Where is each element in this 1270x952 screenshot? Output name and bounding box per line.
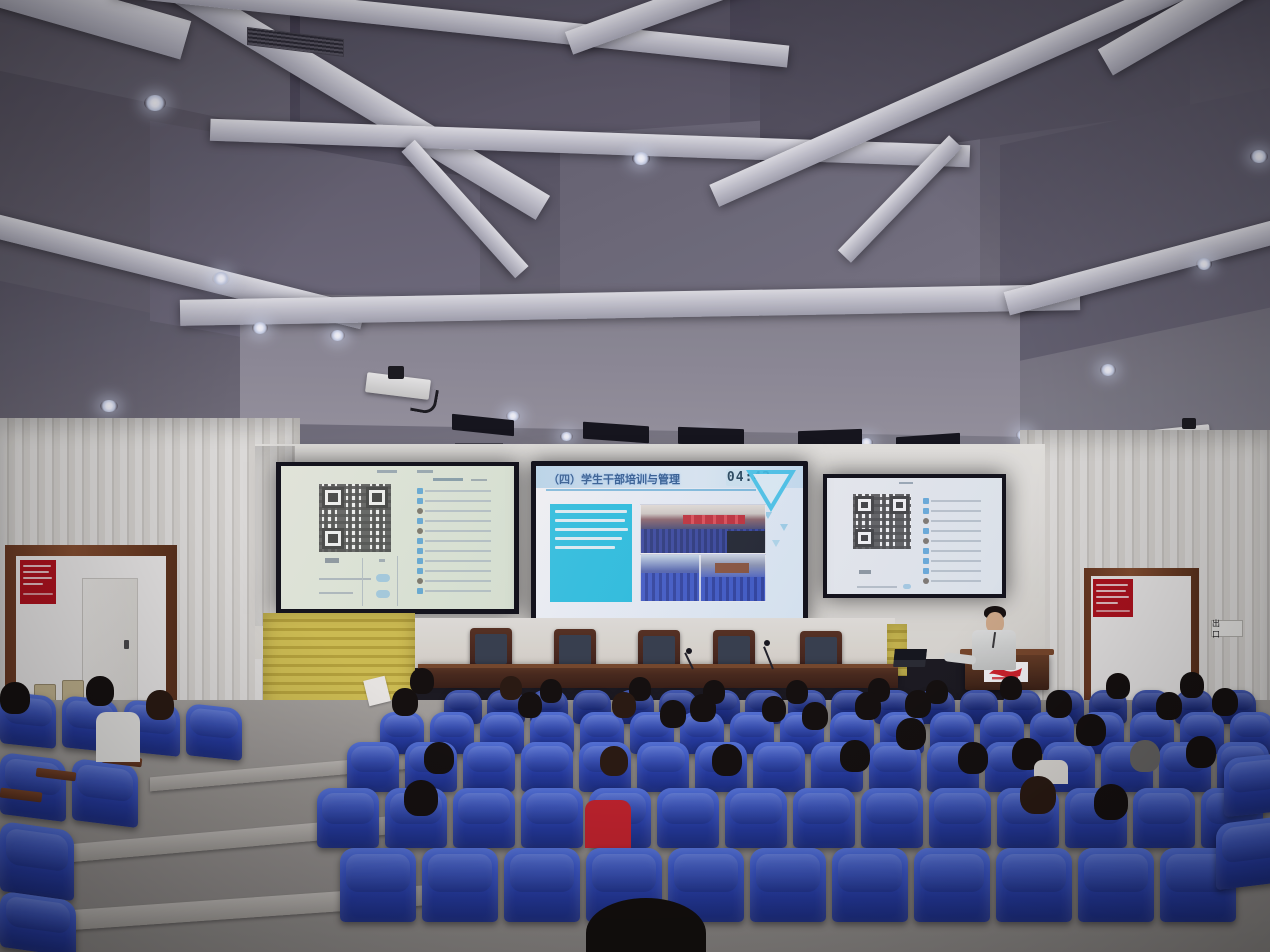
audience-head [540,679,562,703]
left-notice-board [20,560,56,604]
auditorium-seat-left-bank [186,703,242,761]
audience-head [392,688,418,716]
auditorium-seat-left-bank [0,891,76,952]
audience-head [802,702,828,730]
auditorium-seat [463,742,515,792]
head-table [418,666,898,688]
audience-head [840,740,870,772]
audience-body-left [96,712,140,762]
right-projection-screen[interactable] [827,478,1002,594]
slide-text-line [555,528,628,531]
auditorium-scene: （四）学生干部培训与管理 04:42 [0,0,1270,952]
audience-head [1094,784,1128,820]
auditorium-seat [340,848,416,922]
auditorium-seat [317,788,379,848]
slide-text-line [555,546,615,549]
audience-head [518,692,542,718]
audience-head [612,692,636,718]
audience-head [855,692,881,720]
auditorium-seat [725,788,787,848]
audience-head [424,742,454,774]
audience-head [1212,688,1238,716]
stage-chair [470,628,512,668]
audience-head-left [146,690,174,720]
ceiling-speaker-array [583,422,649,444]
auditorium-seat [422,848,498,922]
ceiling-downlight [1250,150,1268,163]
projector-mount-right [1182,418,1196,429]
slide-text-line [555,510,627,513]
auditorium-seat [521,788,583,848]
auditorium-seat [1133,788,1195,848]
exit-sign: 出 口 [1211,620,1243,637]
stage-chair [554,629,596,669]
main-projection-slide[interactable]: （四）学生干部培训与管理 04:42 [536,466,803,620]
audience-head-left [86,676,114,706]
auditorium-seat [750,848,826,922]
auditorium-seat-left-bank [0,752,66,822]
slide-text-panel [550,504,632,602]
auditorium-seat [657,788,719,848]
audience-head [712,744,742,776]
audience-head [1046,690,1072,718]
audience-head [1000,676,1022,700]
head-table-top [418,664,898,668]
auditorium-seat [861,788,923,848]
slide-photo-wide [640,504,766,554]
audience-head [1106,673,1130,699]
audience-head [1180,672,1204,698]
audience-head [1186,736,1216,768]
audience-head [600,746,628,776]
audience-head [958,742,988,774]
microphone-head [686,648,692,654]
audience-body-red [585,800,631,848]
auditorium-seat-right-bank [1224,753,1270,817]
auditorium-seat [793,788,855,848]
auditorium-seat [929,788,991,848]
ceiling-downlight [100,400,118,412]
auditorium-seat [753,742,805,792]
slide-text-line [555,519,625,522]
audience-head [410,668,434,694]
audience-head [786,680,808,704]
auditorium-seat [914,848,990,922]
auditorium-seat [832,848,908,922]
ceiling-downlight [632,152,650,165]
slide-title: （四）学生干部培训与管理 [548,471,680,487]
ceiling-downlight [144,95,166,111]
projector-mount-left [388,366,404,379]
auditorium-seat [1078,848,1154,922]
ceiling-downlight [212,272,230,285]
auditorium-seat [347,742,399,792]
audience-head [1076,714,1106,746]
audience-head [1020,776,1056,814]
presenter-laptop[interactable] [893,649,927,667]
ceiling-downlight [330,330,345,341]
audience-head [1156,692,1182,720]
auditorium-seat [453,788,515,848]
ceiling-downlight [1196,258,1212,270]
ceiling-downlight [560,432,573,441]
auditorium-seat [521,742,573,792]
auditorium-seat-left-bank [72,758,138,828]
audience-head [404,780,438,816]
slide-photo-audience [640,554,700,602]
audience-head [660,700,686,728]
audience-head-left [0,682,30,714]
auditorium-seat-left-bank [0,821,74,901]
triangle-logo-inner-icon [753,474,789,504]
audience-head [762,696,786,722]
left-projection-screen[interactable] [281,466,514,609]
audience-head [690,694,716,722]
audience-head [896,718,926,750]
ceiling-downlight [1100,364,1116,376]
slide-text-line [555,537,622,540]
ceiling [0,0,1270,470]
auditorium-seat [637,742,689,792]
audience-head [500,676,522,700]
microphone-head [764,640,770,646]
audience-head [1130,740,1160,772]
auditorium-seat [504,848,580,922]
right-notice-board [1093,579,1133,617]
ceiling-downlight [252,322,268,334]
auditorium-seat [996,848,1072,922]
door-handle-icon[interactable] [124,640,129,649]
slide-photo-empty-seats [700,554,766,602]
decor-triangle-icon [780,524,788,531]
auditorium-seat-right-bank [1216,816,1270,891]
slide-title-underline [546,489,756,491]
decor-triangle-icon [772,540,780,547]
audience-head [905,690,931,718]
